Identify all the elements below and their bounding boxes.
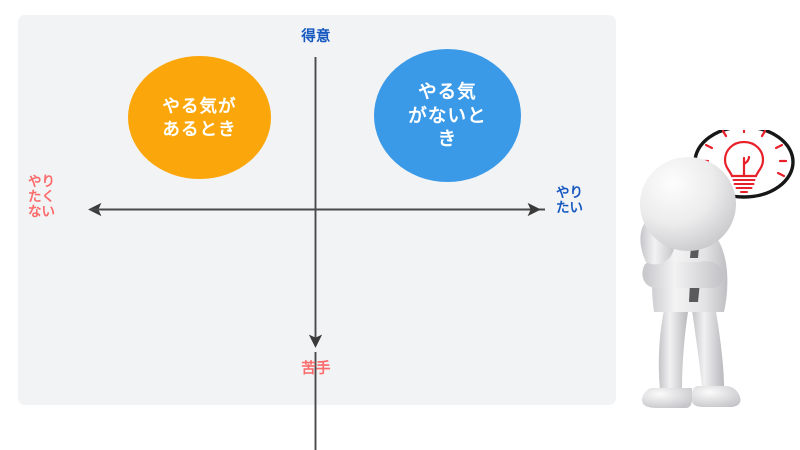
bubble-motivated: やる気が あるとき xyxy=(128,56,271,179)
bubble-unmotivated: やる気 がないと き xyxy=(374,49,521,182)
shoe-right xyxy=(692,386,741,407)
leg-right xyxy=(692,310,724,388)
arm-folded xyxy=(642,261,723,288)
thinking-person-illustration xyxy=(600,130,800,415)
shoe-left xyxy=(642,388,692,408)
head xyxy=(640,157,736,251)
axis-label-bottom: 苦手 xyxy=(284,361,348,377)
diagram-panel xyxy=(18,15,616,405)
diagram-canvas: やる気が あるとき やる気 がないと き 得意 苦手 やり たく ない やり た… xyxy=(0,0,800,450)
axis-label-left: やり たく ない xyxy=(28,174,74,219)
axis-label-top: 得意 xyxy=(284,29,348,45)
leg-left xyxy=(659,310,688,390)
